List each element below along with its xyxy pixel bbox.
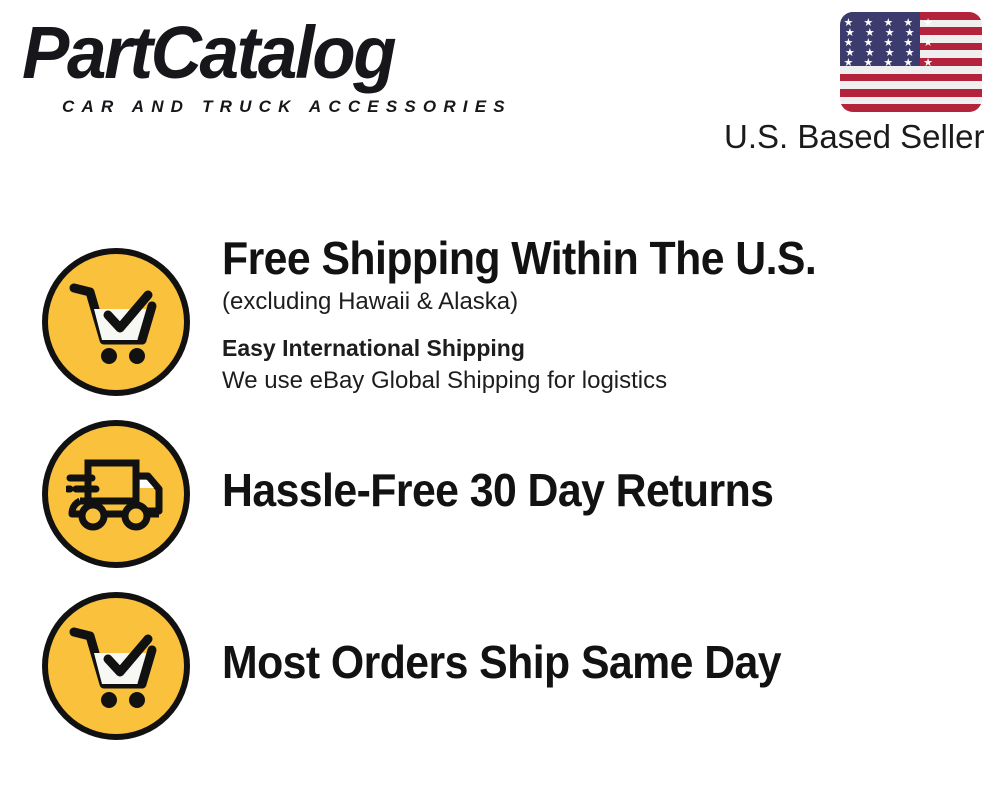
delivery-truck-icon xyxy=(42,420,190,568)
brand-tagline: CAR AND TRUCK ACCESSORIES xyxy=(62,97,512,117)
feature-subheading: Easy International Shipping xyxy=(222,333,992,363)
feature-text-block: Free Shipping Within The U.S. (excluding… xyxy=(222,232,992,396)
delivery-truck-glyph xyxy=(66,456,166,532)
promo-banner: PartCatalog CAR AND TRUCK ACCESSORIES ★ … xyxy=(0,0,1000,800)
feature-title: Hassle-Free 30 Day Returns xyxy=(222,464,938,516)
flag-stripe xyxy=(840,89,982,97)
feature-text-block: Most Orders Ship Same Day xyxy=(222,636,992,688)
shopping-cart-check-icon xyxy=(42,248,190,396)
flag-stripe xyxy=(840,81,982,89)
feature-subtext: We use eBay Global Shipping for logistic… xyxy=(222,366,992,396)
flag-canton: ★ ★ ★ ★ ★ ★ ★ ★ ★ ★ ★ ★ ★ ★ ★ ★ ★ ★ ★ ★ … xyxy=(840,12,920,66)
shopping-cart-check-icon xyxy=(42,592,190,740)
flag-stripe xyxy=(840,104,982,112)
feature-title: Most Orders Ship Same Day xyxy=(222,636,938,688)
flag-stripe xyxy=(840,97,982,105)
brand-wordmark: PartCatalog xyxy=(22,14,473,92)
feature-title: Free Shipping Within The U.S. xyxy=(222,232,938,284)
us-based-seller-label: U.S. Based Seller xyxy=(724,118,984,156)
feature-text-block: Hassle-Free 30 Day Returns xyxy=(222,464,992,516)
feature-note: (excluding Hawaii & Alaska) xyxy=(222,287,992,317)
shopping-cart-check-glyph xyxy=(68,279,164,365)
shopping-cart-check-glyph xyxy=(68,623,164,709)
flag-star-row: ★ ★ ★ ★ ★ xyxy=(840,58,920,69)
brand-logo: PartCatalog CAR AND TRUCK ACCESSORIES xyxy=(22,14,492,119)
flag-stripe xyxy=(840,74,982,82)
us-flag-icon: ★ ★ ★ ★ ★ ★ ★ ★ ★ ★ ★ ★ ★ ★ ★ ★ ★ ★ ★ ★ … xyxy=(840,12,982,112)
